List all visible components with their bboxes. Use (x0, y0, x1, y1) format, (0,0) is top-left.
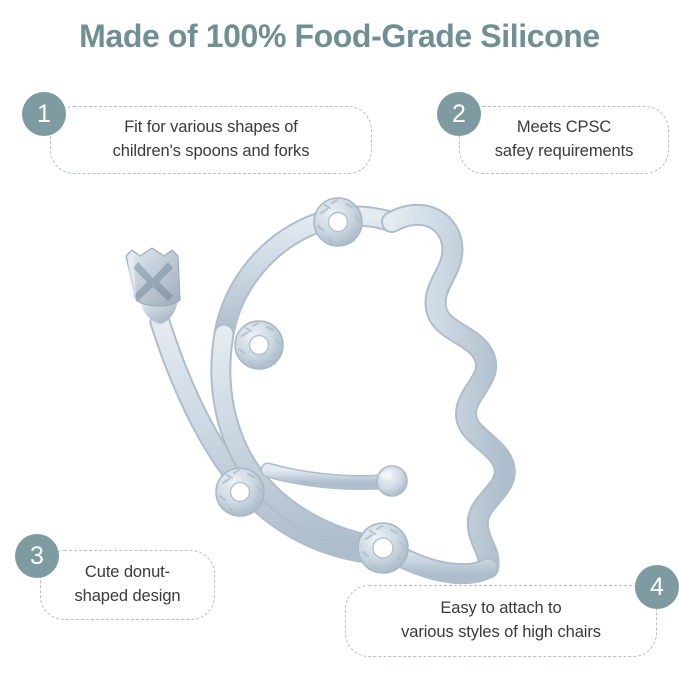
x-slit-cup-holder (126, 248, 180, 324)
callout-4-box: Easy to attach to various styles of high… (345, 585, 657, 657)
callout-3-text: Cute donut- shaped design (62, 561, 192, 609)
callout-1: Fit for various shapes of children's spo… (22, 92, 372, 174)
infographic-canvas: Made of 100% Food-Grade Silicone (0, 0, 679, 679)
callout-4-badge: 4 (635, 565, 679, 609)
callout-1-box: Fit for various shapes of children's spo… (50, 106, 372, 174)
donut-bead (314, 198, 362, 246)
ball-terminal-end (377, 466, 407, 496)
donut-bead (216, 468, 264, 516)
callout-3-badge: 3 (15, 534, 59, 578)
page-title: Made of 100% Food-Grade Silicone (0, 18, 679, 55)
callout-2: Meets CPSC safey requirements 2 (437, 92, 669, 174)
callout-1-badge: 1 (22, 92, 66, 136)
callout-4: Easy to attach to various styles of high… (345, 565, 679, 657)
callout-3-box: Cute donut- shaped design (40, 550, 215, 620)
callout-2-badge: 2 (437, 92, 481, 136)
callout-4-text: Easy to attach to various styles of high… (389, 597, 613, 645)
donut-bead (235, 321, 283, 369)
callout-3: Cute donut- shaped design 3 (15, 534, 215, 620)
callout-2-box: Meets CPSC safey requirements (459, 106, 669, 174)
callout-2-text: Meets CPSC safey requirements (483, 116, 646, 164)
callout-1-text: Fit for various shapes of children's spo… (101, 116, 322, 164)
